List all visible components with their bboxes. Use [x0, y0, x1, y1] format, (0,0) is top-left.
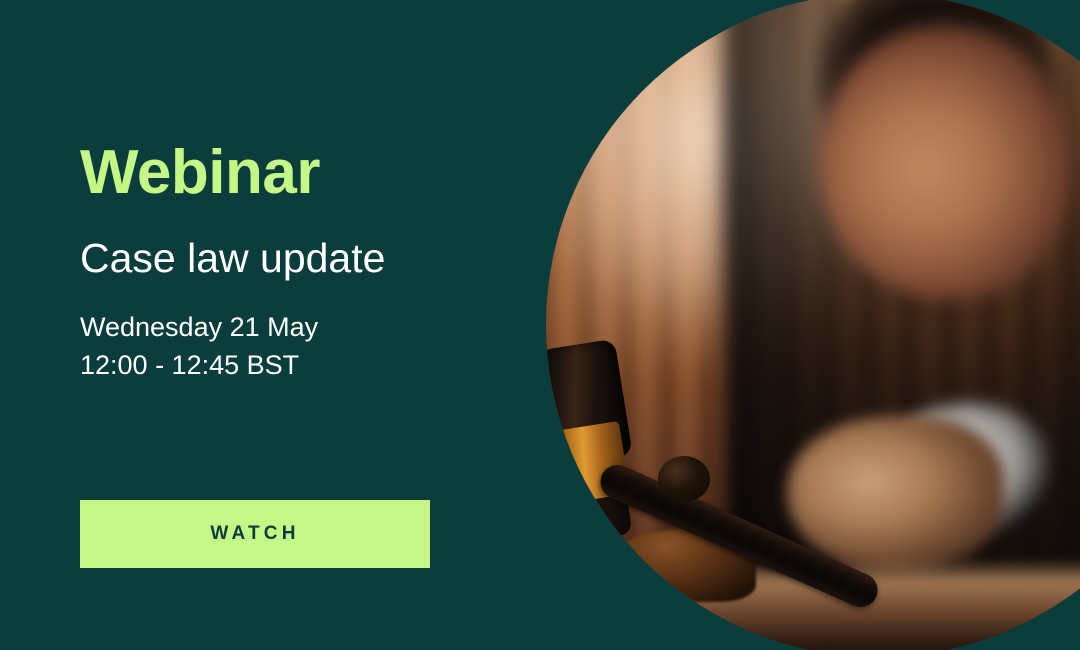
- judge-face: [820, 26, 1069, 299]
- schedule-date: Wednesday 21 May: [80, 308, 318, 346]
- content-column: Webinar Case law update Wednesday 21 May…: [80, 0, 540, 650]
- courtroom-photo: [538, 0, 1080, 650]
- gavel-icon: [540, 330, 900, 580]
- hero-photo-panel: [538, 0, 1080, 650]
- eyebrow-label: Webinar: [80, 140, 320, 205]
- gavel-knob: [658, 456, 710, 502]
- webinar-promo-banner: Webinar Case law update Wednesday 21 May…: [0, 0, 1080, 650]
- page-title: Case law update: [80, 236, 385, 282]
- schedule-time: 12:00 - 12:45 BST: [80, 346, 318, 384]
- watch-button[interactable]: WATCH: [80, 500, 430, 568]
- schedule-block: Wednesday 21 May 12:00 - 12:45 BST: [80, 308, 318, 385]
